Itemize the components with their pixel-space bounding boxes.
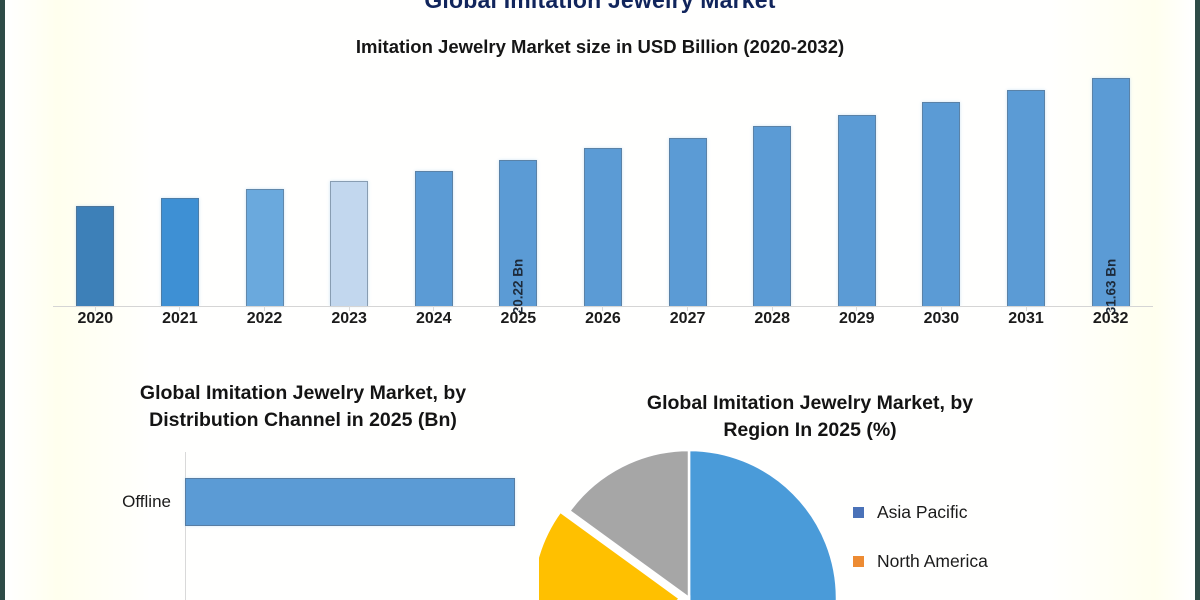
region-legend-label: North America [877,551,988,572]
column-bar[interactable] [246,189,284,306]
column-x-tick-label: 2032 [1068,310,1153,328]
column-bar[interactable]: 20.22 Bn [499,160,537,306]
column-chart: 20.22 Bn31.63 Bn [53,62,1153,307]
distribution-chart-title: Global Imitation Jewelry Market, by Dist… [33,380,573,434]
column-x-tick-label: 2031 [984,310,1069,328]
distribution-chart-title-line2: Distribution Channel in 2025 (Bn) [33,407,573,434]
column-bar[interactable] [161,198,199,306]
column-plot-area: 20.22 Bn31.63 Bn [53,62,1153,307]
column-bar[interactable] [584,148,622,306]
distribution-y-axis [185,452,186,600]
region-chart-title-line2: Region In 2025 (%) [575,417,1045,444]
column-x-tick-label: 2022 [222,310,307,328]
distribution-bar-track [185,478,573,526]
region-legend-label: Asia Pacific [877,502,967,523]
column-x-tick-label: 2023 [307,310,392,328]
column-bar-slot: 20.22 Bn [476,62,561,306]
distribution-bar-chart: Offline [33,452,573,600]
column-x-tick-label: 2030 [899,310,984,328]
region-chart-title-line1: Global Imitation Jewelry Market, by [575,390,1045,417]
column-x-tick-label: 2021 [138,310,223,328]
column-x-tick-label: 2024 [391,310,476,328]
column-x-tick-label: 2029 [814,310,899,328]
distribution-bar[interactable] [185,478,515,526]
region-legend-swatch [853,556,864,567]
column-bar-slot [561,62,646,306]
column-x-tick-label: 2027 [645,310,730,328]
column-bar-slot [391,62,476,306]
region-legend-swatch [853,507,864,518]
column-bar[interactable] [669,138,707,306]
region-legend-item[interactable]: Europe [853,586,1153,600]
column-bar[interactable] [753,126,791,307]
column-bar[interactable] [330,181,368,306]
region-pie-slice[interactable]: Asia Pacific: 50% [689,450,837,600]
region-legend-item[interactable]: North America [853,537,1153,586]
column-bar[interactable] [922,102,960,306]
chart-infographic-canvas: Global Imitation Jewelry Market Imitatio… [0,0,1200,600]
column-bar-slot: 31.63 Bn [1068,62,1153,306]
column-bar[interactable] [76,206,114,306]
column-bar-slot [899,62,984,306]
column-bar-slot [307,62,392,306]
page-title: Global Imitation Jewelry Market [5,0,1195,14]
column-chart-title: Imitation Jewelry Market size in USD Bil… [5,36,1195,58]
column-bar-slot [730,62,815,306]
column-bars-group: 20.22 Bn31.63 Bn [53,62,1153,306]
column-x-tick-label: 2026 [561,310,646,328]
column-x-tick-label: 2028 [730,310,815,328]
column-bar-slot [138,62,223,306]
region-pie-legend: Asia PacificNorth AmericaEurope [853,488,1153,600]
column-bar-slot [222,62,307,306]
region-legend-item[interactable]: Asia Pacific [853,488,1153,537]
distribution-chart-title-line1: Global Imitation Jewelry Market, by [33,380,573,407]
column-x-tick-label: 2025 [476,310,561,328]
region-chart-title: Global Imitation Jewelry Market, by Regi… [575,390,1045,444]
column-bar-slot [53,62,138,306]
column-bar-slot [814,62,899,306]
column-bar[interactable] [1007,90,1045,307]
column-x-tick-labels: 2020202120222023202420252026202720282029… [53,310,1153,328]
distribution-category-label: Offline [33,492,185,512]
column-bar-slot [645,62,730,306]
column-x-tick-label: 2020 [53,310,138,328]
column-bar[interactable]: 31.63 Bn [1092,78,1130,306]
column-bar[interactable] [415,171,453,306]
region-pie-chart: Asia Pacific: 50%North America: 13%Europ… [539,448,855,600]
distribution-bar-row: Offline [33,478,573,526]
column-bar-slot [984,62,1069,306]
column-bar[interactable] [838,115,876,306]
region-pie-svg: Asia Pacific: 50%North America: 13%Europ… [539,448,855,600]
